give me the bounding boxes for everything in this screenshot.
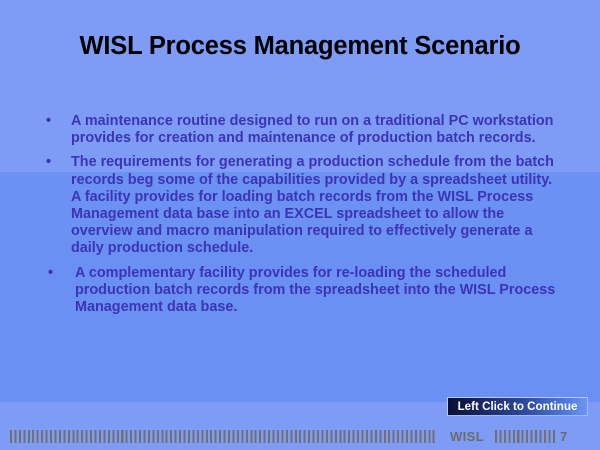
list-item: • A complementary facility provides for … — [44, 265, 564, 317]
list-item-text: A maintenance routine designed to run on… — [71, 113, 564, 147]
list-item: • A maintenance routine designed to run … — [44, 113, 564, 147]
bullet-marker-icon: • — [48, 265, 64, 282]
page-number: 7 — [560, 429, 580, 444]
bullet-marker-icon: • — [46, 154, 62, 171]
left-click-to-continue-button[interactable]: Left Click to Continue — [447, 397, 588, 416]
footer-tick-marks-right — [495, 430, 555, 443]
slide-canvas: WISL Process Management Scenario • A mai… — [0, 0, 600, 450]
bullet-list: • A maintenance routine designed to run … — [44, 113, 564, 322]
footer-tick-marks-left — [10, 430, 435, 443]
page-title: WISL Process Management Scenario — [0, 32, 600, 61]
list-item-text: The requirements for generating a produc… — [71, 154, 564, 257]
list-item: • The requirements for generating a prod… — [44, 154, 564, 257]
footer-bar: WISL 7 — [0, 428, 600, 446]
list-item-text: A complementary facility provides for re… — [75, 265, 564, 317]
footer-label: WISL — [441, 429, 493, 444]
bullet-marker-icon: • — [46, 113, 62, 130]
